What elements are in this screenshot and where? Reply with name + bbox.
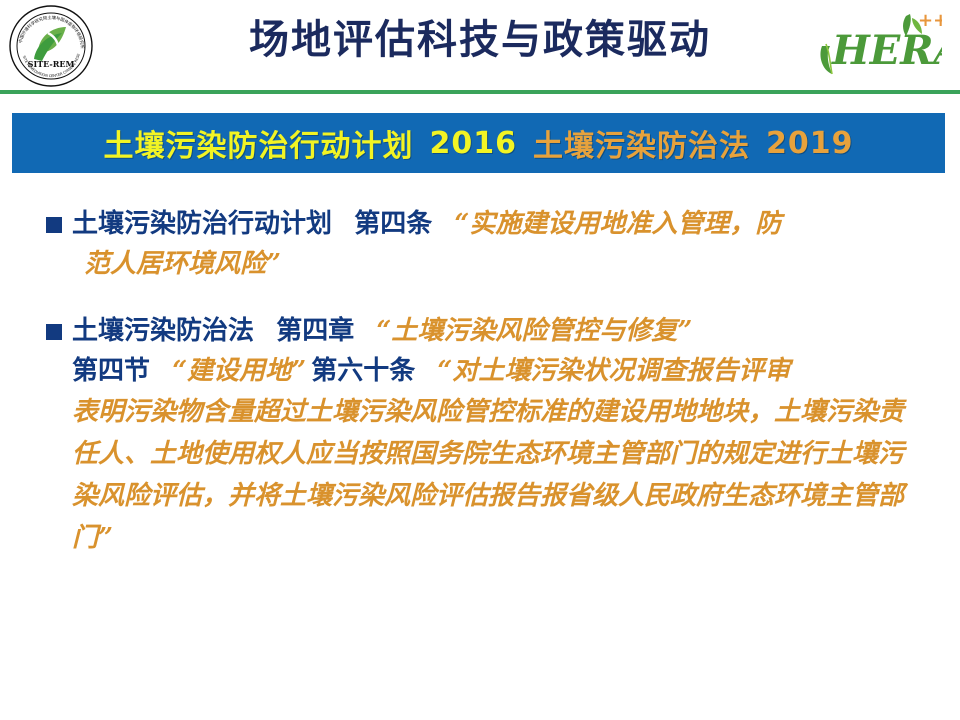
bullet-2-chapter-quote: “土壤污染风险管控与修复” [376,316,692,346]
bullet-2-line-2: 第四节 “建设用地” 第六十条 “对土壤污染状况调查报告评审 [46,352,960,392]
bullet-2-article-label: 第六十条 [311,356,415,386]
bullet-2-document-name: 土壤污染防治法 [72,316,254,346]
bullet-1-article-label: 第四条 [354,209,432,239]
slide-header: SITE-REM 中国环境科学研究院土壤与固体废物环境研究所场地修复中心 SIT… [0,0,960,92]
banner-plan-year: 2016 [430,126,518,161]
hera-logo-text: HERA [831,27,942,74]
bullet-2-body-quote: 表明污染物含量超过土壤污染风险管控标准的建设用地地块，土壤污染责任人、土地使用权… [46,391,917,559]
banner-plan-title: 土壤污染防治行动计划 [104,121,414,165]
banner-law-title: 土壤污染防治法 [533,121,750,165]
bullet-1-quote-line-1: “实施建设用地准入管理，防 [454,209,781,239]
bullet-item-action-plan: 土壤污染防治行动计划 第四条 “实施建设用地准入管理，防 范人居环境风险” [0,205,960,284]
bullet-1-quote-line-2: 范人居环境风险” [84,249,281,279]
bullet-2-section-label: 第四节 [72,356,150,386]
policy-banner: 土壤污染防治行动计划 2016 土壤污染防治法 2019 [12,113,945,173]
bullet-1-line-1: 土壤污染防治行动计划 第四条 “实施建设用地准入管理，防 [46,205,960,245]
banner-law-year: 2019 [766,126,854,161]
bullet-square-icon [46,324,62,340]
slide-body: 土壤污染防治行动计划 第四条 “实施建设用地准入管理，防 范人居环境风险” 土壤… [0,205,960,705]
hera-logo: HERA ++ [814,4,942,84]
header-divider-rule [0,90,960,94]
hera-logo-superscript: ++ [918,10,942,31]
bullet-2-section-quote: “建设用地” [172,356,306,386]
bullet-2-body-quote-head: “对土壤污染状况调查报告评审 [437,356,790,386]
bullet-2-line-1: 土壤污染防治法 第四章 “土壤污染风险管控与修复” [46,312,960,352]
bullet-2-chapter-label: 第四章 [276,316,354,346]
bullet-1-line-2: 范人居环境风险” [46,245,960,285]
bullet-item-soil-law: 土壤污染防治法 第四章 “土壤污染风险管控与修复” 第四节 “建设用地” 第六十… [0,312,960,559]
bullet-square-icon [46,217,62,233]
bullet-1-document-name: 土壤污染防治行动计划 [72,209,332,239]
